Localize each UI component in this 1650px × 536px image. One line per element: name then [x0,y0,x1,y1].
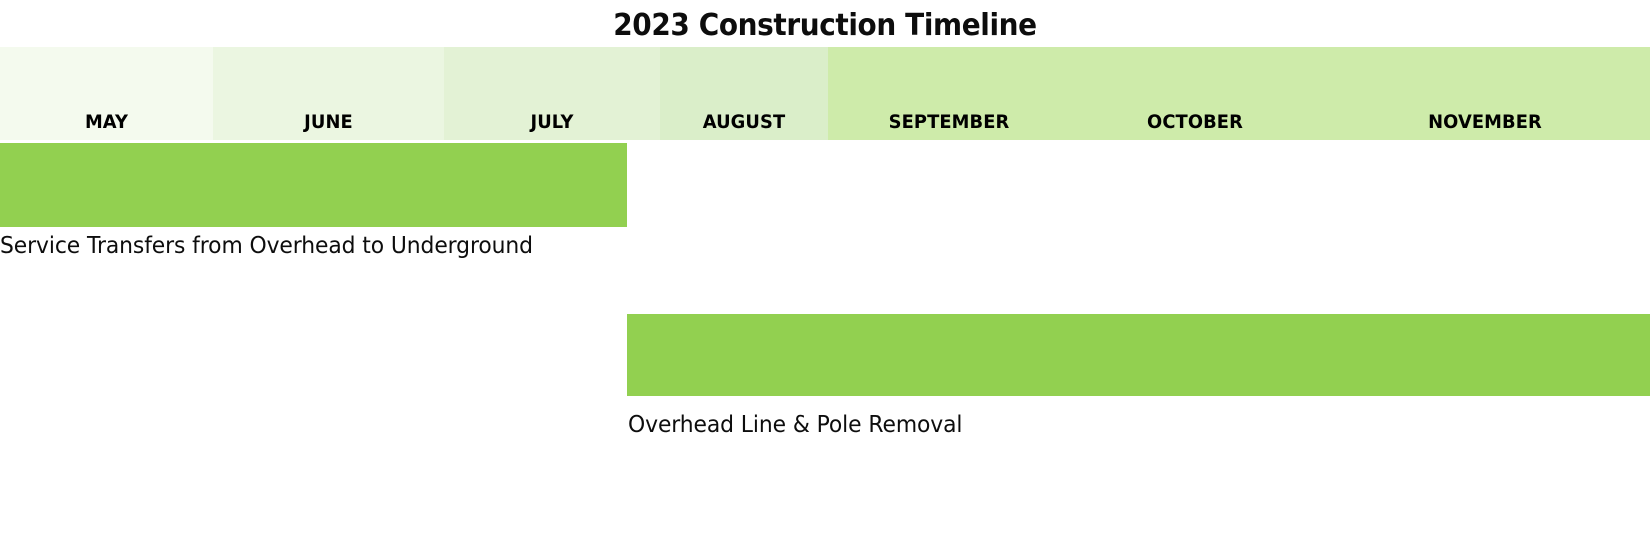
construction-timeline-chart: 2023 Construction Timeline MAY JUNE JULY… [0,0,1650,536]
month-cell-june: JUNE [213,47,444,140]
month-cell-may: MAY [0,47,213,140]
month-cell-august: AUGUST [660,47,828,140]
month-label-june: JUNE [220,111,437,133]
month-cell-september: SEPTEMBER [828,47,1070,140]
month-cell-october: OCTOBER [1070,47,1320,140]
task-bar-service-transfers [0,143,627,227]
task-bar-overhead-line-pole-removal [627,314,1650,396]
month-cell-july: JULY [444,47,660,140]
task-label-overhead-line-pole-removal: Overhead Line & Pole Removal [628,412,962,438]
month-label-august: AUGUST [665,111,823,133]
page-title: 2023 Construction Timeline [58,8,1593,43]
month-label-october: OCTOBER [1078,111,1313,133]
month-label-september: SEPTEMBER [835,111,1062,133]
month-label-november: NOVEMBER [1330,111,1640,133]
month-label-may: MAY [6,111,206,133]
month-header-row: MAY JUNE JULY AUGUST SEPTEMBER OCTOBER N… [0,47,1650,140]
month-cell-november: NOVEMBER [1320,47,1650,140]
task-label-service-transfers: Service Transfers from Overhead to Under… [0,233,533,259]
month-label-july: JULY [450,111,653,133]
